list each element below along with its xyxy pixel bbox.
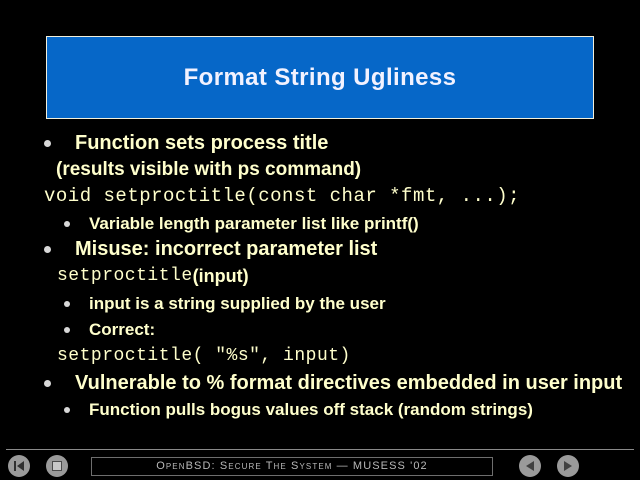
bullet-dot-icon bbox=[64, 221, 70, 227]
bullet-label: input is a string supplied by the user bbox=[89, 295, 386, 312]
code-label: void setproctitle(const char *fmt, ...); bbox=[44, 187, 520, 206]
slide-footer: OpenBSD: Secure The System — MUSESS '02 bbox=[0, 452, 640, 480]
code-line-setproctitle-correct: setproctitle( "%s", input) bbox=[0, 342, 640, 370]
slide-title-banner: Format String Ugliness bbox=[46, 36, 594, 119]
bullet-label: Correct: bbox=[89, 321, 155, 338]
bullet-dot-icon bbox=[44, 140, 51, 147]
bullet-item-correct: Correct: bbox=[0, 316, 640, 342]
stop-square-icon bbox=[51, 460, 63, 472]
page-title: Format String Ugliness bbox=[184, 64, 457, 92]
bullet-item-input-is-a-string: input is a string supplied by the user bbox=[0, 290, 640, 316]
bullet-item-function-sets-process-title: Function sets process title bbox=[0, 130, 640, 156]
bullet-dot-icon bbox=[64, 327, 70, 333]
bullet-label: Function sets process title bbox=[75, 133, 328, 153]
next-arrow-icon bbox=[562, 460, 574, 472]
footer-title-box: OpenBSD: Secure The System — MUSESS '02 bbox=[91, 457, 493, 476]
slide-body: Function sets process title (results vis… bbox=[0, 130, 640, 422]
stop-button[interactable] bbox=[46, 455, 68, 477]
first-slide-button[interactable] bbox=[8, 455, 30, 477]
footer-title: OpenBSD: Secure The System — MUSESS '02 bbox=[156, 460, 428, 472]
bullet-label: Variable length parameter list like prin… bbox=[89, 215, 419, 232]
bullet-item-misuse-incorrect-parameter-list: Misuse: incorrect parameter list bbox=[0, 236, 640, 262]
bullet-item-vulnerable-to-format-directives: Vulnerable to % format directives embedd… bbox=[0, 370, 640, 396]
code-function-name: setproctitle bbox=[57, 267, 193, 285]
bullet-dot-icon bbox=[64, 407, 70, 413]
bullet-label: Misuse: incorrect parameter list bbox=[75, 239, 377, 259]
footer-divider bbox=[6, 449, 634, 450]
text-results-visible-ps: (results visible with ps command) bbox=[0, 156, 640, 182]
bullet-item-function-pulls-bogus-values: Function pulls bogus values off stack (r… bbox=[0, 396, 640, 422]
previous-arrow-icon bbox=[524, 460, 536, 472]
continuation-label: (results visible with ps command) bbox=[56, 160, 361, 179]
code-line-setproctitle-prototype: void setproctitle(const char *fmt, ...); bbox=[0, 182, 640, 210]
next-slide-button[interactable] bbox=[557, 455, 579, 477]
bullet-label: Function pulls bogus values off stack (r… bbox=[89, 401, 533, 418]
bullet-dot-icon bbox=[44, 246, 51, 253]
code-argument: (input) bbox=[193, 267, 249, 285]
previous-slide-button[interactable] bbox=[519, 455, 541, 477]
bullet-label: Vulnerable to % format directives embedd… bbox=[75, 373, 622, 393]
code-line-setproctitle-input: setproctitle(input) bbox=[0, 262, 640, 290]
first-slide-icon bbox=[13, 460, 25, 472]
presentation-slide: Format String Ugliness Function sets pro… bbox=[0, 0, 640, 480]
bullet-dot-icon bbox=[44, 380, 51, 387]
code-label: setproctitle( "%s", input) bbox=[57, 347, 351, 365]
bullet-dot-icon bbox=[64, 301, 70, 307]
bullet-item-variable-length-parameter-list: Variable length parameter list like prin… bbox=[0, 210, 640, 236]
